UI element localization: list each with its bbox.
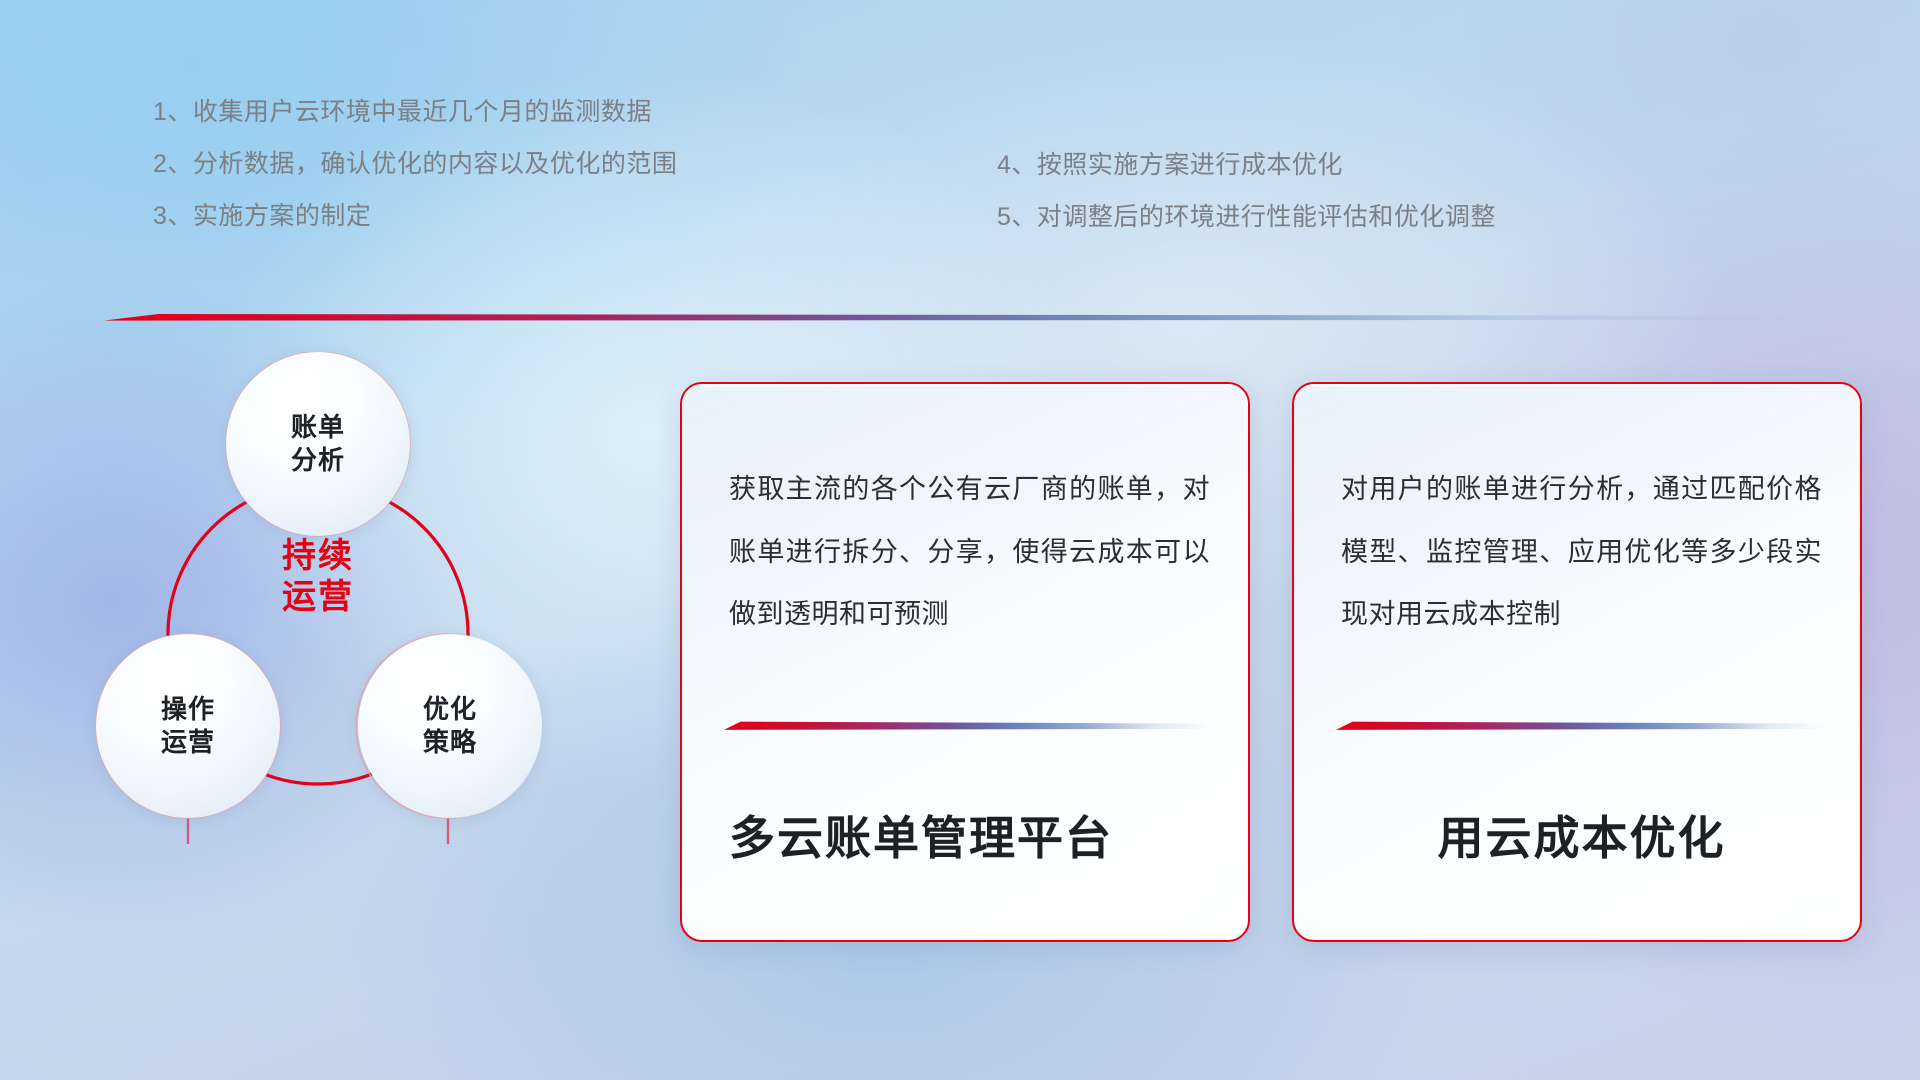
card-accent-bar [1336, 720, 1824, 732]
card-description: 对用户的账单进行分析，通过匹配价格模型、监控管理、应用优化等多少段实现对用云成本… [1341, 458, 1822, 646]
steps-list-left: 1、收集用户云环境中最近几个月的监测数据 2、分析数据，确认优化的内容以及优化的… [153, 100, 677, 229]
divider-blade [104, 312, 1804, 323]
venn-center-line1: 持续 [282, 536, 354, 577]
venn-bubble-label: 操作 运营 [161, 693, 215, 760]
steps-list-right: 4、按照实施方案进行成本优化 5、对调整后的环境进行性能评估和优化调整 [997, 153, 1496, 230]
venn-bubble-label-line2: 运营 [161, 726, 215, 759]
card-accent-bar [724, 720, 1212, 732]
venn-bubble-label-line2: 策略 [423, 726, 477, 759]
venn-center-label: 持续 运营 [226, 502, 410, 652]
venn-bubble-label: 账单 分析 [291, 411, 345, 478]
step-item-4: 4、按照实施方案进行成本优化 [997, 153, 1496, 178]
venn-bubble-label: 优化 策略 [423, 693, 477, 760]
feature-card-cloud-cost-optimization[interactable]: 对用户的账单进行分析，通过匹配价格模型、监控管理、应用优化等多少段实现对用云成本… [1292, 382, 1862, 942]
continuous-operation-diagram: 账单 分析 操作 运营 优化 策略 持续 运营 [96, 352, 656, 952]
venn-bubble-optimization-strategy[interactable]: 优化 策略 [358, 634, 542, 818]
venn-center-line2: 运营 [282, 577, 354, 618]
card-description: 获取主流的各个公有云厂商的账单，对账单进行拆分、分享，使得云成本可以做到透明和可… [729, 458, 1210, 646]
card-title: 多云账单管理平台 [729, 813, 1210, 864]
venn-bubble-label-line1: 优化 [423, 693, 477, 726]
card-accent-blade [1336, 720, 1824, 732]
section-divider [104, 312, 1804, 323]
venn-bubble-label-line2: 分析 [291, 444, 345, 477]
venn-center-text: 持续 运营 [282, 536, 354, 618]
step-item-3: 3、实施方案的制定 [153, 204, 677, 229]
step-item-5: 5、对调整后的环境进行性能评估和优化调整 [997, 205, 1496, 230]
venn-bubble-label-line1: 账单 [291, 411, 345, 444]
slide-canvas: 1、收集用户云环境中最近几个月的监测数据 2、分析数据，确认优化的内容以及优化的… [0, 0, 1920, 1080]
venn-bubble-label-line1: 操作 [161, 693, 215, 726]
card-accent-blade [724, 720, 1212, 732]
step-item-1: 1、收集用户云环境中最近几个月的监测数据 [153, 100, 677, 125]
feature-card-multicloud-billing[interactable]: 获取主流的各个公有云厂商的账单，对账单进行拆分、分享，使得云成本可以做到透明和可… [680, 382, 1250, 942]
card-title: 用云成本优化 [1341, 813, 1822, 864]
venn-bubble-operations[interactable]: 操作 运营 [96, 634, 280, 818]
step-item-2: 2、分析数据，确认优化的内容以及优化的范围 [153, 152, 677, 177]
